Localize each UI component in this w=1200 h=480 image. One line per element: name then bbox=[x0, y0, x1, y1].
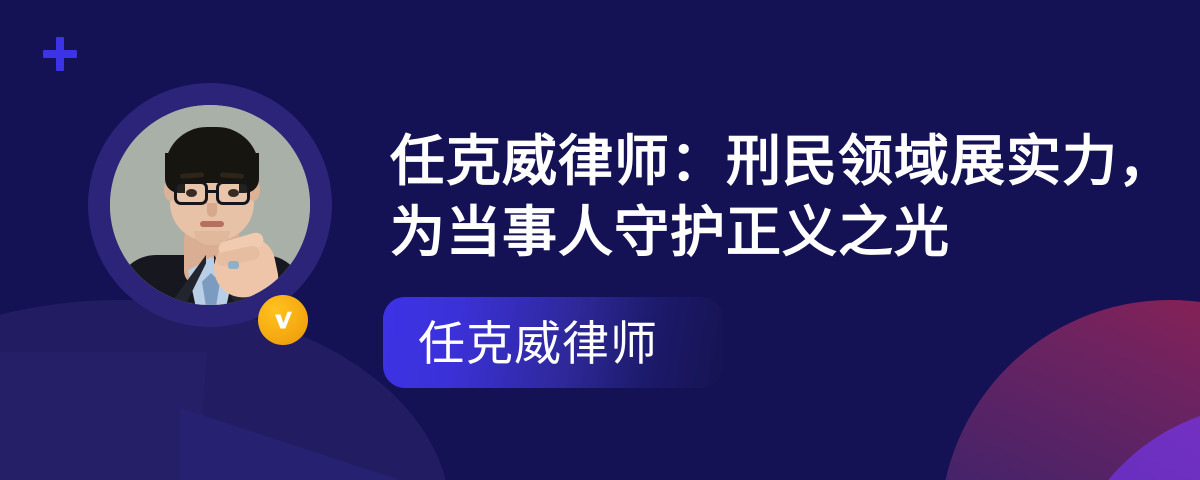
page-title: 任克威律师：刑民领域展实力，为当事人守护正义之光 bbox=[390, 126, 1180, 268]
verified-check-icon bbox=[268, 305, 298, 335]
portrait-eyeglass-left bbox=[174, 181, 208, 205]
verified-badge bbox=[258, 295, 308, 345]
portrait-finger-ring bbox=[228, 261, 239, 269]
avatar-photo bbox=[110, 105, 310, 305]
plus-icon bbox=[43, 37, 77, 71]
profile-banner: 任克威律师：刑民领域展实力，为当事人守护正义之光 任克威律师 bbox=[0, 0, 1200, 480]
lawyer-name-label: 任克威律师 bbox=[418, 318, 658, 370]
portrait-eyeglass-bridge bbox=[208, 190, 216, 193]
portrait-mouth bbox=[200, 221, 224, 227]
portrait-nose bbox=[207, 203, 217, 217]
navy-block-decoration bbox=[0, 352, 207, 480]
portrait-eyeglass-right bbox=[216, 181, 250, 205]
avatar[interactable] bbox=[88, 83, 332, 327]
